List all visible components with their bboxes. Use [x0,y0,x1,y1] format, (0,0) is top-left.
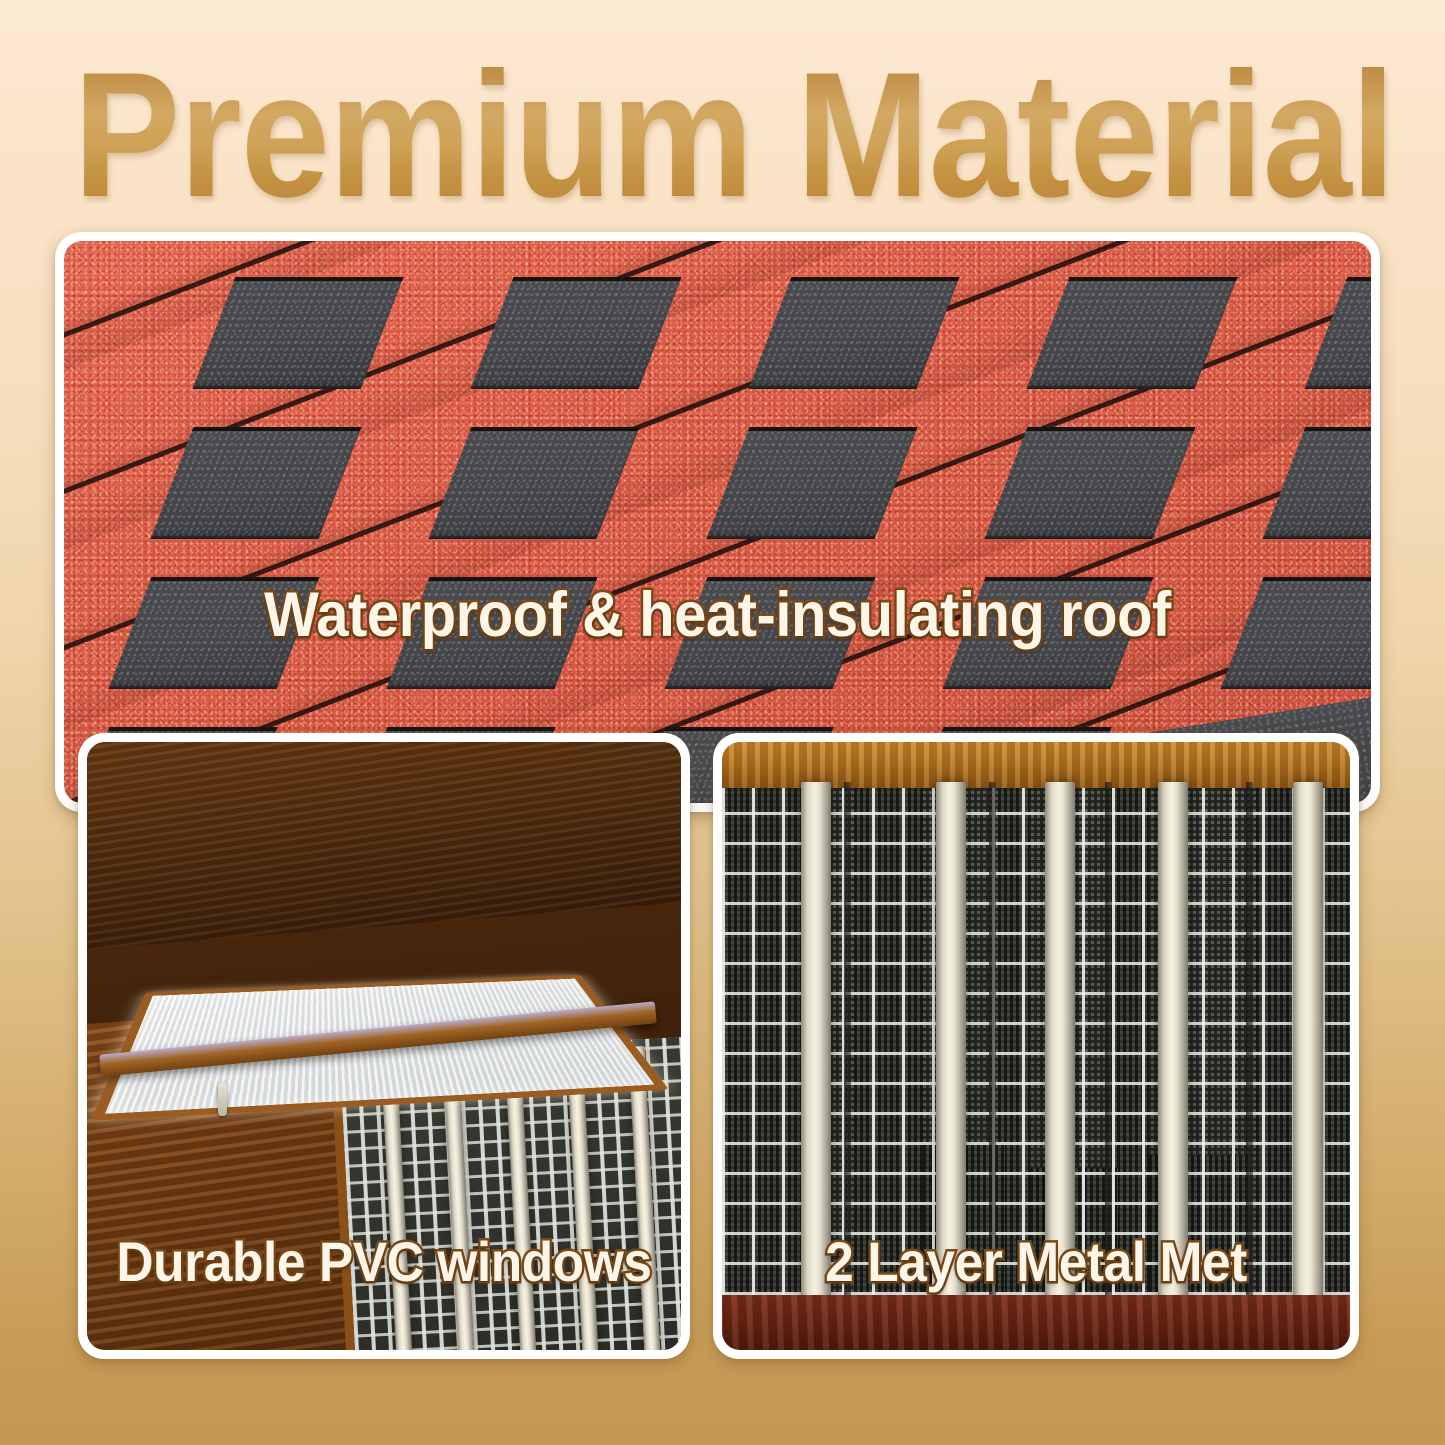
feature-card-roof-inner: Waterproof & heat-insulating roof [64,241,1371,803]
caption-roof: Waterproof & heat-insulating roof [116,579,1318,651]
page-title: Premium Material [73,46,1394,224]
mesh-vertical-bar [936,782,966,1299]
panel-gap [1105,782,1112,1305]
caption-pvc-windows: Durable PVC windows [111,1229,657,1294]
panel-gap [1246,782,1253,1305]
feature-card-pvc-inner: Durable PVC windows [87,742,681,1350]
poster-title-container: Premium Material [0,46,1445,224]
panel-gap [844,782,851,1305]
mesh-vertical-bar [1158,782,1188,1299]
feature-card-pvc-windows: Durable PVC windows [78,733,690,1359]
mesh-vertical-bar [1293,782,1323,1299]
mesh-top-wood-rail [722,742,1350,788]
panel-gap [989,782,996,1305]
feature-card-metal-mesh: 2 Layer Metal Met [713,733,1359,1359]
panel-latch-hook [218,1082,227,1116]
mesh-vertical-bar [1045,782,1075,1299]
premium-material-poster: Premium Material [0,0,1445,1445]
window-bar [629,1046,662,1350]
red-shingle-roof-photo [64,241,1371,803]
caption-metal-mesh: 2 Layer Metal Met [747,1229,1325,1294]
hutch-back-wall [87,742,681,951]
feature-card-roof: Waterproof & heat-insulating roof [55,232,1380,812]
mesh-bottom-wood-floor [722,1295,1350,1350]
feature-card-mesh-inner: 2 Layer Metal Met [722,742,1350,1350]
mesh-vertical-bar [801,782,831,1299]
